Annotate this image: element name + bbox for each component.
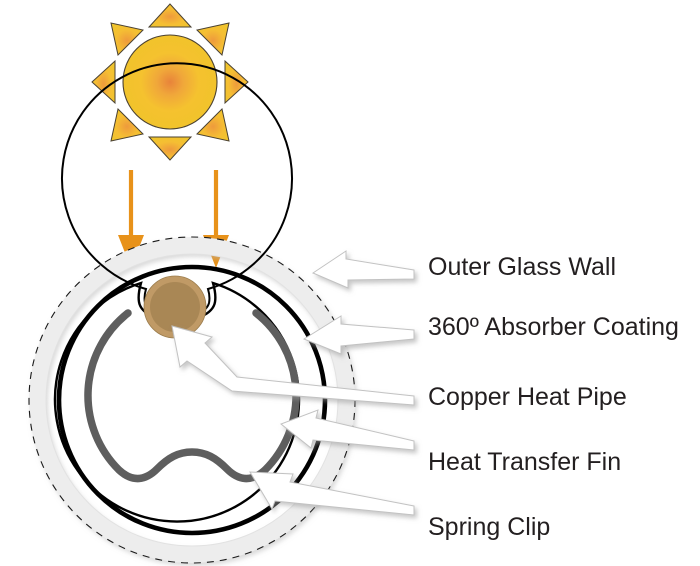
label-spring-clip: Spring Clip — [428, 515, 550, 540]
copper-heat-pipe-core — [150, 282, 200, 332]
sun-ray-s — [149, 137, 191, 160]
label-copper-heat-pipe: Copper Heat Pipe — [428, 385, 627, 410]
diagram-svg — [0, 0, 700, 566]
label-heat-transfer-fin: Heat Transfer Fin — [428, 450, 621, 475]
callout-arrow-outer-glass-wall — [313, 251, 414, 288]
sun-core-icon — [123, 35, 217, 129]
sun-ray-e — [225, 61, 248, 103]
sun-ray-n — [149, 4, 191, 27]
label-outer-glass-wall: Outer Glass Wall — [428, 255, 616, 280]
diagram-canvas: Outer Glass Wall 360º Absorber Coating C… — [0, 0, 700, 566]
label-absorber-coating: 360º Absorber Coating — [428, 315, 679, 340]
